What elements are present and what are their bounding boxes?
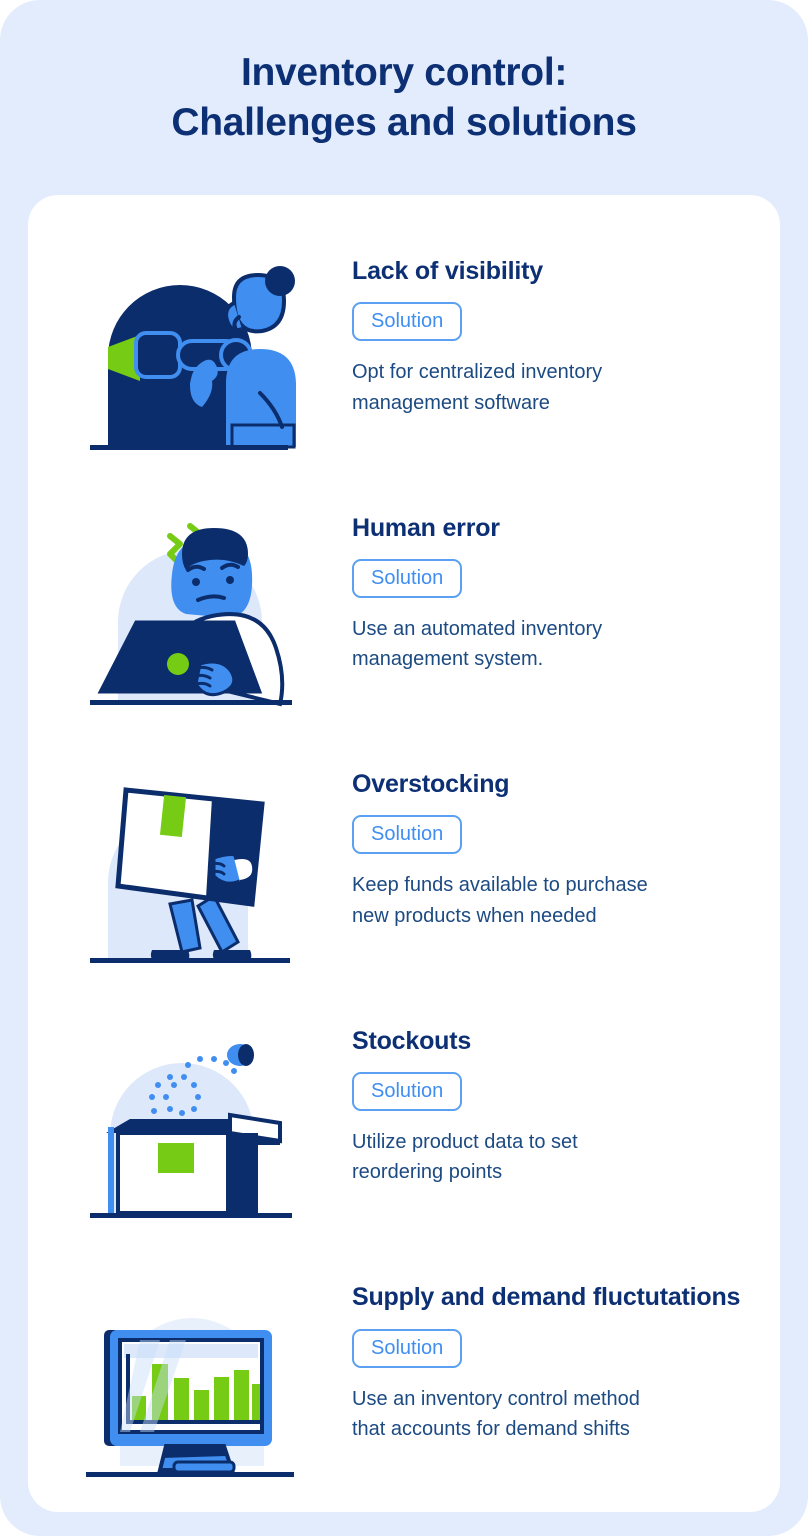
item-content: Supply and demand fluctutations Solution… [324,1255,752,1444]
item-content: Human error Solution Use an automated in… [324,486,752,675]
infographic-page: Inventory control: Challenges and soluti… [0,0,808,1536]
solution-badge[interactable]: Solution [352,1072,462,1111]
person-carrying-heavy-box-icon [74,770,306,970]
item-description: Use an automated inventory management sy… [352,614,707,675]
item-description: Use an inventory control method that acc… [352,1384,707,1445]
item-description-line-2: management software [352,388,707,418]
item-description: Utilize product data to set reordering p… [352,1127,707,1188]
item-description-line-1: Keep funds available to purchase [352,870,707,900]
challenge-list: Lack of visibility Solution Opt for cent… [28,195,780,1512]
content-card: Lack of visibility Solution Opt for cent… [28,195,780,1512]
solution-badge[interactable]: Solution [352,559,462,598]
list-item: Stockouts Solution Utilize product data … [28,999,780,1256]
item-description: Opt for centralized inventory management… [352,357,707,418]
page-title: Inventory control: Challenges and soluti… [0,48,808,148]
item-description-line-2: that accounts for demand shifts [352,1414,707,1444]
item-title: Overstocking [352,768,752,801]
empty-open-box-with-fly-icon [74,1027,306,1227]
item-title: Supply and demand fluctutations [352,1281,752,1314]
illustration-container [56,486,324,743]
page-title-line-1: Inventory control: [0,48,808,98]
list-item: Human error Solution Use an automated in… [28,486,780,743]
item-description-line-1: Utilize product data to set [352,1127,707,1157]
item-description-line-2: new products when needed [352,901,707,931]
solution-badge[interactable]: Solution [352,1329,462,1368]
item-description-line-1: Use an automated inventory [352,614,707,644]
item-title: Human error [352,512,752,545]
item-title-line-1: Supply and demand [352,1283,586,1311]
item-description-line-2: management system. [352,644,707,674]
page-title-line-2: Challenges and solutions [0,98,808,148]
item-description-line-2: reordering points [352,1157,707,1187]
illustration-container [56,1255,324,1512]
list-item: Supply and demand fluctutations Solution… [28,1255,780,1512]
item-title-line-2: fluctutations [593,1283,740,1311]
person-with-telescope-icon [74,257,306,457]
item-description: Keep funds available to purchase new pro… [352,870,707,931]
item-description-line-1: Opt for centralized inventory [352,357,707,387]
illustration-container [56,229,324,486]
illustration-container [56,742,324,999]
item-title: Stockouts [352,1025,752,1058]
illustration-container [56,999,324,1256]
solution-badge[interactable]: Solution [352,302,462,341]
monitor-with-bar-chart-icon [74,1284,306,1484]
item-content: Lack of visibility Solution Opt for cent… [324,229,752,418]
frustrated-person-at-laptop-icon [74,514,306,714]
item-content: Stockouts Solution Utilize product data … [324,999,752,1188]
list-item: Overstocking Solution Keep funds availab… [28,742,780,999]
item-title: Lack of visibility [352,255,752,288]
item-content: Overstocking Solution Keep funds availab… [324,742,752,931]
list-item: Lack of visibility Solution Opt for cent… [28,229,780,486]
item-description-line-1: Use an inventory control method [352,1384,707,1414]
solution-badge[interactable]: Solution [352,815,462,854]
